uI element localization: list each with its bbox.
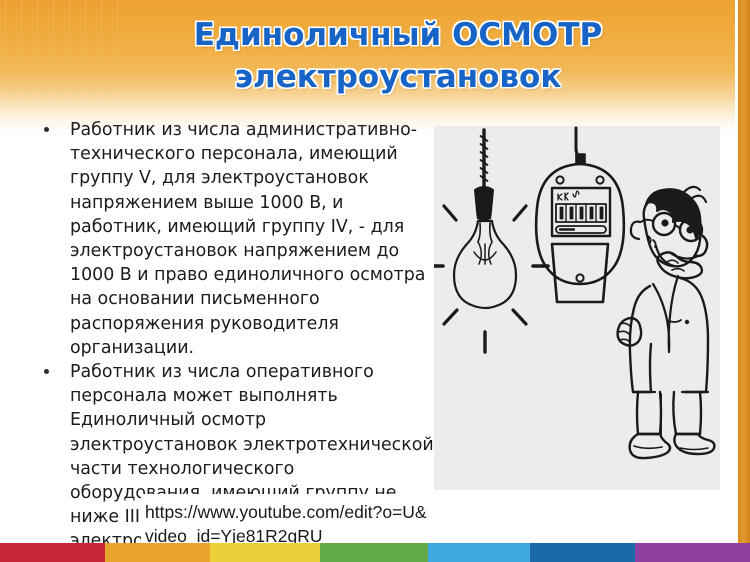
slide-background-streaks <box>0 0 120 132</box>
slide-title-line-2: электроустановок <box>118 56 678 98</box>
color-bar-segment-green <box>320 543 428 562</box>
bullet-dot-icon <box>44 127 49 132</box>
color-bar-segment-light-blue <box>428 543 530 562</box>
color-bar-segment-yellow <box>210 543 320 562</box>
illustration-image <box>434 126 720 490</box>
bullet-dot-icon <box>44 369 49 374</box>
color-bar-segment-red <box>0 543 105 562</box>
cartoon-illustration-svg <box>434 126 720 490</box>
url-text[interactable]: https://www.youtube.com/edit?o=U&video_i… <box>145 500 435 548</box>
bottom-color-bar <box>0 543 750 562</box>
bullet-text: Работник из числа административно-технич… <box>70 118 434 360</box>
right-edge-accent-strip <box>738 0 750 543</box>
color-bar-segment-orange <box>105 543 210 562</box>
color-bar-segment-dark-blue <box>530 543 635 562</box>
list-item: Работник из числа административно-технич… <box>34 118 434 360</box>
slide-title: Единоличный ОСМОТР электроустановок <box>118 14 678 98</box>
color-bar-segment-purple <box>635 543 750 562</box>
slide-title-line-1: Единоличный ОСМОТР <box>118 14 678 56</box>
presentation-slide: Единоличный ОСМОТР электроустановок Рабо… <box>0 0 750 562</box>
